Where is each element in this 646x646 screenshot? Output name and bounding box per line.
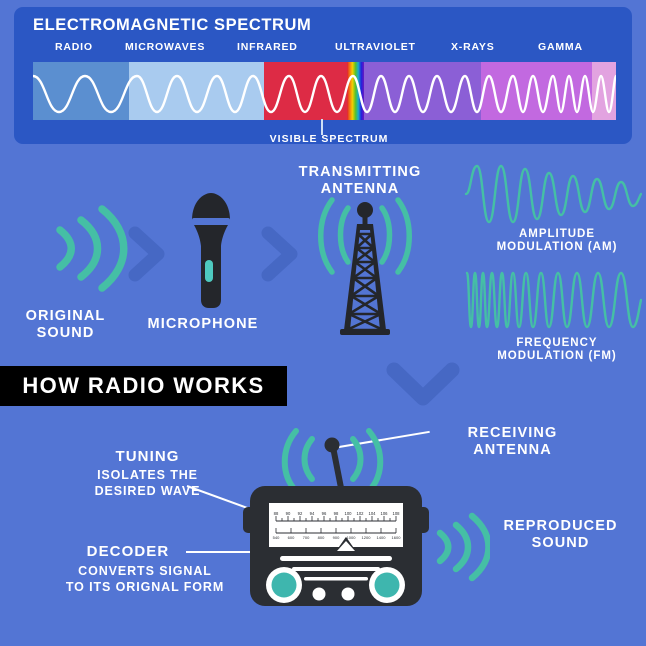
page-title: HOW RADIO WORKS [0, 366, 287, 406]
svg-text:98: 98 [334, 511, 339, 516]
svg-text:900: 900 [333, 535, 340, 540]
spectrum-panel-title: ELECTROMAGNETIC SPECTRUM [33, 16, 311, 35]
antenna-tower-icon [300, 190, 430, 340]
svg-text:90: 90 [286, 511, 291, 516]
amplitude-modulation-wave-icon [464, 163, 642, 225]
svg-text:700: 700 [303, 535, 310, 540]
svg-text:1600: 1600 [392, 535, 402, 540]
frequency-modulation-wave-icon [464, 268, 642, 332]
svg-text:94: 94 [310, 511, 315, 516]
receiving-antenna-label: RECEIVINGANTENNA [425, 425, 600, 459]
spectrum-waveform-icon [33, 62, 616, 120]
svg-text:1200: 1200 [362, 535, 372, 540]
svg-text:800: 800 [318, 535, 325, 540]
amplitude-modulation-label: AMPLITUDEMODULATION (AM) [468, 228, 646, 255]
spectrum-band-label-gamma: GAMMA [538, 41, 583, 53]
spectrum-color-bar [33, 62, 616, 120]
spectrum-band-label-radio: RADIO [55, 41, 93, 53]
title-banner: HOW RADIO WORKS [0, 366, 287, 406]
microphone-icon [178, 190, 244, 310]
radio-knob-right [369, 567, 405, 603]
svg-text:108: 108 [393, 511, 401, 516]
electromagnetic-spectrum-panel: ELECTROMAGNETIC SPECTRUM RADIO MICROWAVE… [14, 7, 632, 144]
svg-text:600: 600 [288, 535, 295, 540]
original-sound-wave-icon [48, 196, 128, 301]
antenna-rod [325, 438, 343, 494]
svg-text:540: 540 [273, 535, 280, 540]
spectrum-band-label-infrared: INFRARED [237, 41, 298, 53]
microphone-label: MICROPHONE [133, 316, 273, 333]
radio-button-1 [313, 588, 326, 601]
svg-text:1400: 1400 [377, 535, 387, 540]
spectrum-band-label-ultraviolet: ULTRAVIOLET [335, 41, 416, 53]
tuning-dial: 889092 949698 100102104 106108 540600700… [269, 503, 403, 551]
svg-text:104: 104 [369, 511, 377, 516]
svg-text:88: 88 [274, 511, 279, 516]
frequency-modulation-label: FREQUENCYMODULATION (FM) [468, 337, 646, 364]
tuning-callout-title: TUNING [60, 448, 235, 466]
infographic-root: ELECTROMAGNETIC SPECTRUM RADIO MICROWAVE… [0, 0, 646, 646]
svg-text:1000: 1000 [347, 535, 357, 540]
original-sound-label: ORIGINALSOUND [3, 308, 128, 342]
radio-button-2 [342, 588, 355, 601]
spectrum-band-label-xrays: X-RAYS [451, 41, 495, 53]
svg-text:106: 106 [381, 511, 389, 516]
chevron-right-icon-2 [258, 225, 302, 283]
radio-receiver-icon: 889092 949698 100102104 106108 540600700… [236, 425, 436, 610]
svg-text:100: 100 [345, 511, 353, 516]
reproduced-sound-label: REPRODUCEDSOUND [478, 518, 643, 552]
spectrum-band-label-microwaves: MICROWAVES [125, 41, 205, 53]
decoder-callout-title: DECODER [58, 543, 198, 561]
svg-text:96: 96 [322, 511, 327, 516]
visible-spectrum-label: VISIBLE SPECTRUM [14, 133, 632, 145]
svg-text:102: 102 [357, 511, 365, 516]
visible-spectrum-label-text: VISIBLE SPECTRUM [270, 133, 389, 145]
radio-knob-left [266, 567, 302, 603]
svg-text:92: 92 [298, 511, 303, 516]
decoder-callout-description: CONVERTS SIGNALTO ITS ORIGNAL FORM [45, 564, 245, 595]
chevron-down-icon [384, 358, 462, 416]
chevron-right-icon-1 [125, 225, 169, 283]
spectrum-band-labels: RADIO MICROWAVES INFRARED ULTRAVIOLET X-… [33, 41, 613, 60]
